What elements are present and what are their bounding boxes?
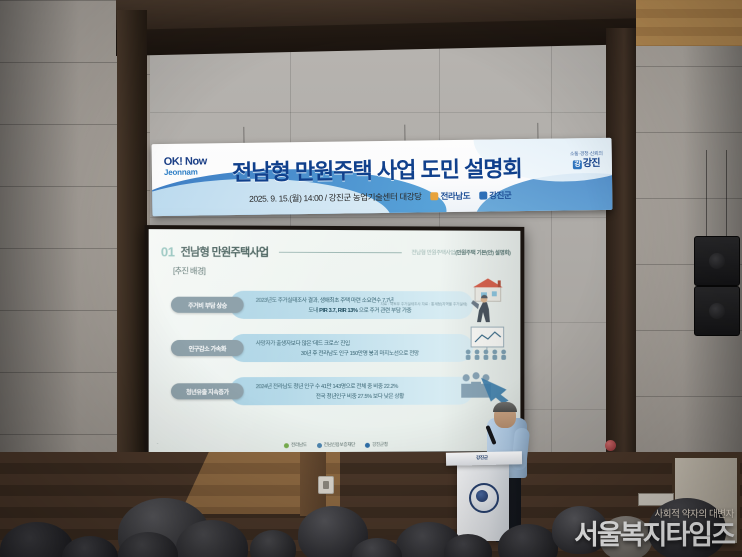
line2-prefix: 도내 [308, 308, 319, 314]
ok-now-jeonnam-logo: OK! Now Jeonnam [164, 156, 207, 177]
gangjin-county-emblem [469, 483, 499, 513]
footer-logo-dot-icon [365, 442, 370, 447]
logo-line-2: Jeonnam [164, 168, 207, 177]
footer-logo-item: 강진군청 [365, 442, 388, 448]
slide-header-right-strong: (만원주택 기본(안) 설명회) [455, 250, 510, 256]
slide-footer-logos: 전라남도 전남신용보증재단 강진군청 [149, 441, 521, 449]
slide-row: 2023년도 주거실태조사 결과, 생애최초 주택 마련 소요연수 7.7년 도… [171, 290, 507, 321]
watermark: 사회적 약자의 대변자 서울복지타임즈 [574, 510, 734, 550]
line2-bold: PIR 3.7, RIR 13% [319, 308, 358, 314]
banner-datetime-venue: 2025. 9. 15.(월) 14:00 / 강진군 농업기술센터 대강당 [249, 191, 422, 203]
banner-org-1: 전라남도 [440, 191, 470, 201]
footer-logo-dot-icon [317, 443, 322, 448]
footer-logo-item: 전라남도 [284, 442, 307, 448]
presentation-slide: 01 전남형 만원주택사업 전남형 만원주택사업(만원주택 기본(안) 설명회)… [149, 229, 521, 453]
proscenium-left-column [117, 10, 147, 470]
slide-section-number: 01 [161, 244, 175, 259]
event-banner: OK! Now Jeonnam 전남형 만원주택 사업 도민 설명회 2025.… [152, 138, 613, 216]
slide-row-tag: 주거비 부담 상승 [171, 297, 244, 313]
youth-outflow-arrow-icon [457, 368, 514, 404]
banner-title: 전남형 만원주택 사업 도민 설명회 [212, 151, 542, 188]
slide-section-title: 전남형 만원주택사업 [181, 243, 269, 259]
jeonnam-logo-icon [430, 192, 438, 200]
gangjin-mark-icon: 강 [573, 160, 582, 169]
slide-row-line1: 2024년 전라남도 청년 인구 수 41만 143명으로 전체 중 비중 22… [256, 382, 463, 390]
logo-line-1: OK! Now [164, 156, 207, 168]
speaker-hanging-wire [726, 150, 727, 238]
slide-header-right-faint: 전남형 만원주택사업 [411, 250, 455, 256]
slide-row-line2: 30년 후 전라남도 인구 150만명 붕괴 마지노선으로 전망 [256, 349, 463, 357]
line-array-speaker [694, 236, 740, 286]
emergency-light [605, 440, 616, 451]
footer-logo-dot-icon [284, 443, 289, 448]
projection-screen: 01 전남형 만원주택사업 전남형 만원주택사업(만원주택 기본(안) 설명회)… [145, 225, 525, 457]
speaker-hair [493, 402, 517, 412]
photo-scene: OK! Now Jeonnam 전남형 만원주택 사업 도민 설명회 2025.… [0, 0, 742, 557]
slide-row-tag: 청년유출 지속증가 [171, 383, 244, 399]
slide-row-line1: 사망자가 출생자보다 많은 '데드 크로스' 진입 [256, 339, 463, 347]
slide-header-right: 전남형 만원주택사업(만원주택 기본(안) 설명회) [411, 248, 510, 256]
slide-row: 2024년 전라남도 청년 인구 수 41만 143명으로 전체 중 비중 22… [171, 376, 507, 407]
slide-header: 01 전남형 만원주택사업 전남형 만원주택사업(만원주택 기본(안) 설명회) [161, 243, 511, 260]
wall-power-outlet [318, 476, 334, 494]
watermark-tagline: 사회적 약자의 대변자 [574, 510, 734, 520]
line2-suffix: 으로 주거 관련 부담 가중 [358, 308, 412, 314]
slide-subtitle: [추진 배경] [173, 265, 205, 276]
left-stone-wall [0, 0, 132, 470]
line-array-speaker [694, 286, 740, 336]
upper-right-wood-panel [634, 0, 742, 46]
gangjin-wordmark: 강강진 [570, 158, 603, 170]
gangjin-logo-icon [479, 192, 487, 200]
proscenium-right-column [606, 28, 636, 470]
footer-logo-item: 전남신용보증재단 [317, 442, 355, 448]
slide-row: 사망자가 출생자보다 많은 '데드 크로스' 진입 30년 후 전라남도 인구 … [171, 333, 507, 363]
banner-org-2: 강진군 [489, 190, 511, 200]
slide-header-rule [279, 251, 402, 252]
slide-row-tag: 인구감소 가속화 [171, 340, 244, 356]
slide-row-bar: 사망자가 출생자보다 많은 '데드 크로스' 진입 30년 후 전라남도 인구 … [230, 334, 473, 362]
slide-page-mark: - [157, 441, 159, 447]
slide-row-bar: 2024년 전라남도 청년 인구 수 41만 143명으로 전체 중 비중 22… [230, 377, 473, 406]
speaker-hanging-wire [706, 150, 707, 238]
gangjin-name: 강진 [583, 158, 600, 169]
gangjin-slogan-block: 소통·경청·신뢰의 강강진 [570, 152, 603, 170]
watermark-name: 서울복지타임즈 [574, 522, 734, 549]
podium-label: 강진군 [452, 454, 512, 461]
slide-row-line2: 전국 청년인구 비중 27.5% 보다 낮은 상황 [256, 392, 463, 400]
population-decline-chart-icon [459, 326, 514, 360]
person-carrying-house-icon [457, 278, 514, 326]
slide-row-note: 자료 : 국토부 주거실태조사 자료 : 통계청(지역별 주거실태) [380, 302, 467, 308]
